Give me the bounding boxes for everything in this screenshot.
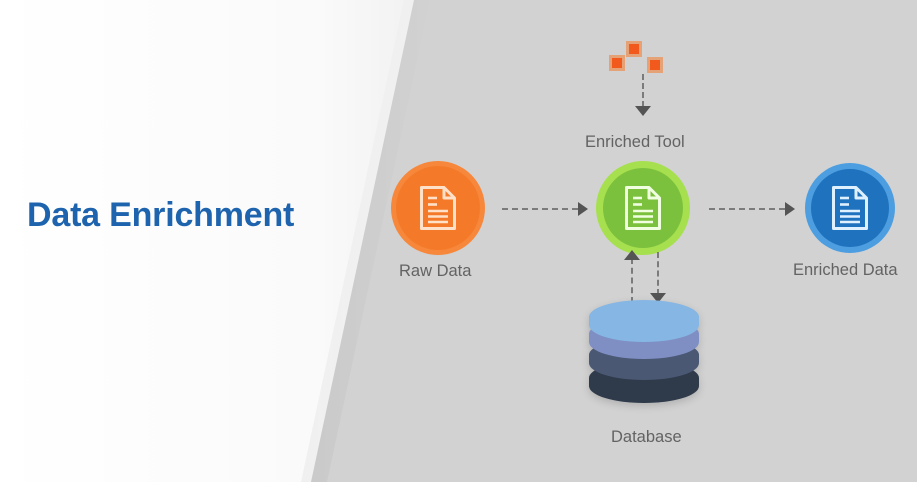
connector-process-to-database bbox=[657, 252, 659, 295]
connector-raw-to-process bbox=[502, 208, 578, 210]
raw-data-label: Raw Data bbox=[399, 262, 471, 281]
connector-database-to-process bbox=[631, 258, 633, 303]
document-icon bbox=[831, 185, 869, 231]
connector-tool-to-process bbox=[642, 74, 644, 107]
enriched-data-label: Enriched Data bbox=[793, 261, 898, 280]
connector-raw-to-process-arrow-icon bbox=[578, 202, 588, 216]
node-raw-data[interactable] bbox=[396, 166, 480, 250]
tool-square-right-icon bbox=[650, 60, 660, 70]
document-icon bbox=[419, 185, 457, 231]
database-label: Database bbox=[611, 428, 682, 447]
diagram-canvas: Data Enrichment Enriched Tool Raw Data bbox=[0, 0, 917, 482]
connector-tool-to-process-arrow-icon bbox=[635, 106, 651, 116]
node-database[interactable] bbox=[585, 300, 703, 418]
connector-database-to-process-arrow-icon bbox=[624, 250, 640, 260]
node-enriched-data[interactable] bbox=[811, 169, 889, 247]
tool-square-left-icon bbox=[612, 58, 622, 68]
connector-process-to-enriched-data bbox=[709, 208, 785, 210]
node-process[interactable] bbox=[603, 168, 683, 248]
database-icon bbox=[585, 300, 703, 418]
enriched-tool-label: Enriched Tool bbox=[585, 133, 685, 152]
page-title: Data Enrichment bbox=[27, 196, 294, 235]
tool-square-top-icon bbox=[629, 44, 639, 54]
document-icon bbox=[624, 185, 662, 231]
connector-process-to-enriched-data-arrow-icon bbox=[785, 202, 795, 216]
